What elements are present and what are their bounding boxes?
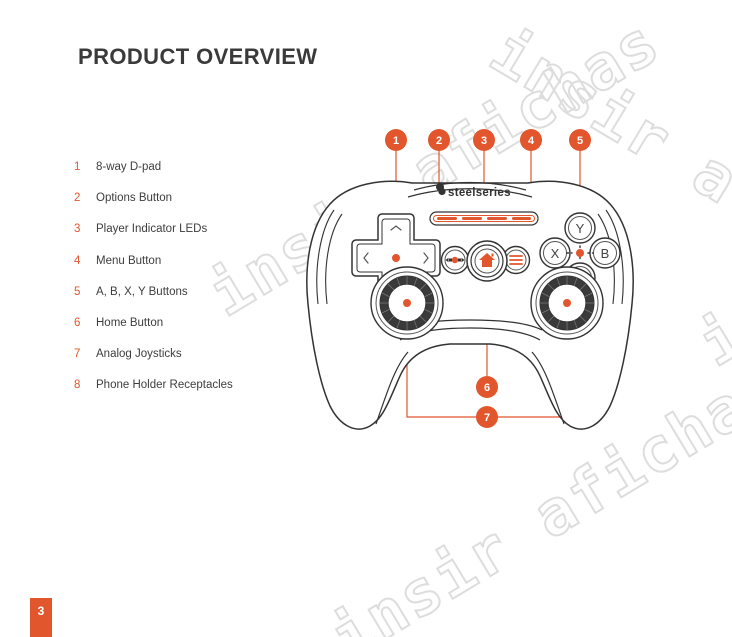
list-item: 3 Player Indicator LEDs: [74, 214, 314, 245]
list-item: 6 Home Button: [74, 308, 314, 339]
list-item: 2 Options Button: [74, 183, 314, 214]
callout-anchor-dot: [403, 299, 411, 307]
analog-joystick-right[interactable]: [531, 267, 603, 339]
button-b-label: B: [601, 246, 610, 261]
legend-label: Analog Joysticks: [96, 339, 182, 370]
callout-badge-2[interactable]: 2: [428, 129, 450, 151]
legend-label: 8-way D-pad: [96, 152, 161, 183]
brand-text: steelseries: [448, 187, 511, 199]
legend-label: Menu Button: [96, 246, 161, 277]
legend-list: 1 8-way D-pad 2 Options Button 3 Player …: [74, 152, 314, 402]
callout-badge-7[interactable]: 7: [476, 406, 498, 428]
callout-badge-6[interactable]: 6: [476, 376, 498, 398]
callout-anchor-dot: [563, 299, 571, 307]
analog-joystick-left[interactable]: [371, 267, 443, 339]
legend-number: 2: [74, 183, 88, 214]
list-item: 4 Menu Button: [74, 246, 314, 277]
page-number: 3: [30, 604, 52, 618]
button-y-label: Y: [576, 221, 585, 236]
callout-anchor-dot: [392, 254, 400, 262]
page-number-badge: 3: [30, 598, 52, 637]
callout-anchor-dot: [576, 249, 584, 257]
legend-number: 4: [74, 246, 88, 277]
player-indicator-leds[interactable]: [430, 212, 538, 225]
callout-badge-label: 6: [484, 382, 490, 394]
legend-label: A, B, X, Y Buttons: [96, 277, 188, 308]
callout-badge-label: 5: [577, 135, 583, 147]
list-item: 8 Phone Holder Receptacles: [74, 370, 314, 401]
callout-badge-label: 4: [528, 135, 535, 147]
callout-badge-3[interactable]: 3: [473, 129, 495, 151]
legend-number: 5: [74, 277, 88, 308]
callout-badge-label: 1: [393, 135, 399, 147]
controller-diagram: steelseries: [290, 118, 650, 448]
legend-number: 1: [74, 152, 88, 183]
legend-number: 8: [74, 370, 88, 401]
callout-badge-1[interactable]: 1: [385, 129, 407, 151]
legend-number: 7: [74, 339, 88, 370]
legend-label: Home Button: [96, 308, 163, 339]
callout-badge-5[interactable]: 5: [569, 129, 591, 151]
list-item: 1 8-way D-pad: [74, 152, 314, 183]
legend-number: 6: [74, 308, 88, 339]
page-title: PRODUCT OVERVIEW: [78, 44, 317, 70]
legend-number: 3: [74, 214, 88, 245]
list-item: 7 Analog Joysticks: [74, 339, 314, 370]
list-item: 5 A, B, X, Y Buttons: [74, 277, 314, 308]
page-content: PRODUCT OVERVIEW 1 8-way D-pad 2 Options…: [0, 0, 732, 637]
legend-label: Player Indicator LEDs: [96, 214, 207, 245]
callout-badge-label: 3: [481, 135, 487, 147]
home-button[interactable]: [467, 241, 507, 281]
legend-label: Phone Holder Receptacles: [96, 370, 233, 401]
callout-badge-label: 2: [436, 135, 442, 147]
legend-label: Options Button: [96, 183, 172, 214]
options-button[interactable]: [442, 247, 469, 274]
button-x-label: X: [551, 246, 560, 261]
callout-badge-4[interactable]: 4: [520, 129, 542, 151]
callout-badge-label: 7: [484, 412, 490, 424]
